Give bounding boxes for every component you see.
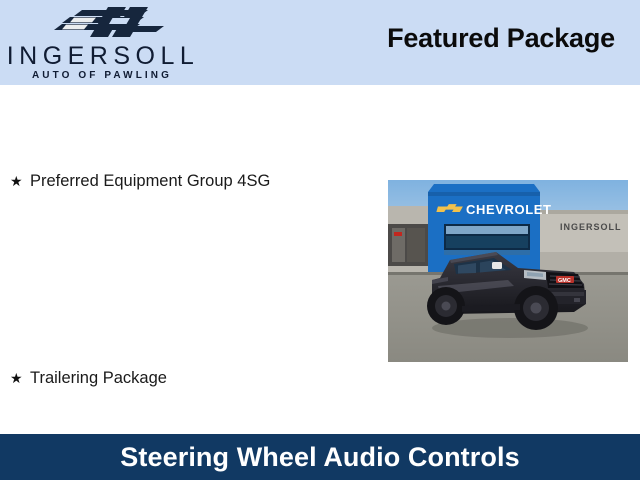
feature-list: ★ Preferred Equipment Group 4SG ★ Traile… [0,85,375,434]
header-band: INGERSOLL AUTO OF PAWLING Featured Packa… [0,0,640,85]
ingersoll-wings-logo-icon [52,6,172,42]
chevrolet-sign-text: CHEVROLET [466,202,552,217]
rear-wheel [427,287,465,325]
brand-logo: INGERSOLL AUTO OF PAWLING [0,2,210,84]
footer-title: Steering Wheel Audio Controls [120,442,519,473]
list-item: ★ Trailering Package [10,370,167,387]
brand-name: INGERSOLL [0,44,206,69]
page-title: Featured Package [387,23,615,54]
building-sign-text: INGERSOLL [560,222,622,232]
vehicle-photo: INGERSOLL CHEVROLET [388,180,628,362]
brand-tagline: AUTO OF PAWLING [0,71,204,81]
feature-label: Trailering Package [30,370,167,387]
list-item: ★ Preferred Equipment Group 4SG [10,173,270,190]
star-bullet-icon: ★ [10,174,30,188]
feature-label: Preferred Equipment Group 4SG [30,173,270,190]
truck-badge-text: GMC [558,278,571,284]
star-bullet-icon: ★ [10,371,30,385]
front-wheel [514,286,558,330]
footer-banner: Steering Wheel Audio Controls [0,434,640,480]
